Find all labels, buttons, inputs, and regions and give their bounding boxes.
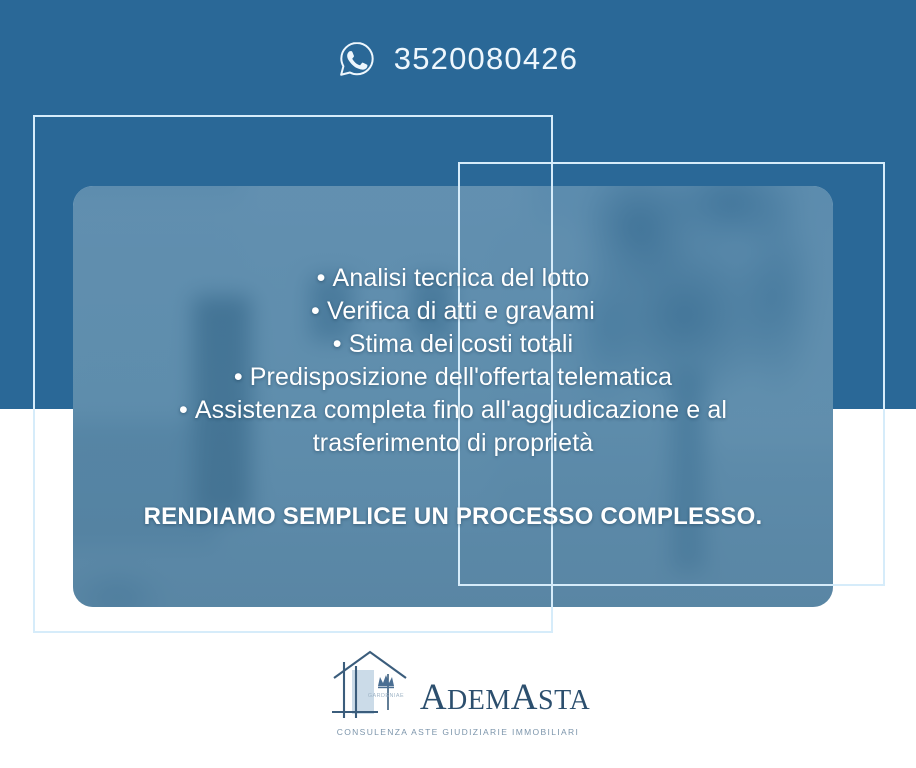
phone-number[interactable]: 3520080426 xyxy=(394,41,578,77)
logo-name-part-3: A xyxy=(511,677,538,718)
crown-icon xyxy=(378,675,394,688)
service-list: Analisi tecnica del lotto Verifica di at… xyxy=(103,262,803,460)
logo-name-part-1: A xyxy=(420,677,447,718)
list-item: Stima dei costi totali xyxy=(103,328,803,361)
tagline: RENDIAMO SEMPLICE UN PROCESSO COMPLESSO. xyxy=(144,503,763,531)
house-outline-icon: GARDENIAE xyxy=(326,648,414,720)
logo-subtitle: CONSULENZA ASTE GIUDIZIARIE IMMOBILIARI xyxy=(337,727,580,737)
logo-name-part-4: STA xyxy=(538,685,590,716)
list-item: Verifica di atti e gravami xyxy=(103,295,803,328)
logo-name-part-2: DEM xyxy=(447,685,511,716)
content-card: Analisi tecnica del lotto Verifica di at… xyxy=(73,186,833,607)
logo-lockup: GARDENIAE ADEMASTA xyxy=(326,648,590,720)
contact-header: 3520080426 xyxy=(0,32,916,86)
list-item: Assistenza completa fino all'aggiudicazi… xyxy=(103,394,803,460)
logo-wordmark: ADEMASTA xyxy=(420,679,590,716)
company-logo: GARDENIAE ADEMASTA CONSULENZA ASTE GIUDI… xyxy=(0,648,916,737)
logo-badge-text: GARDENIAE xyxy=(368,693,404,699)
whatsapp-icon[interactable] xyxy=(338,40,376,78)
list-item: Predisposizione dell'offerta telematica xyxy=(103,361,803,394)
list-item: Analisi tecnica del lotto xyxy=(103,262,803,295)
